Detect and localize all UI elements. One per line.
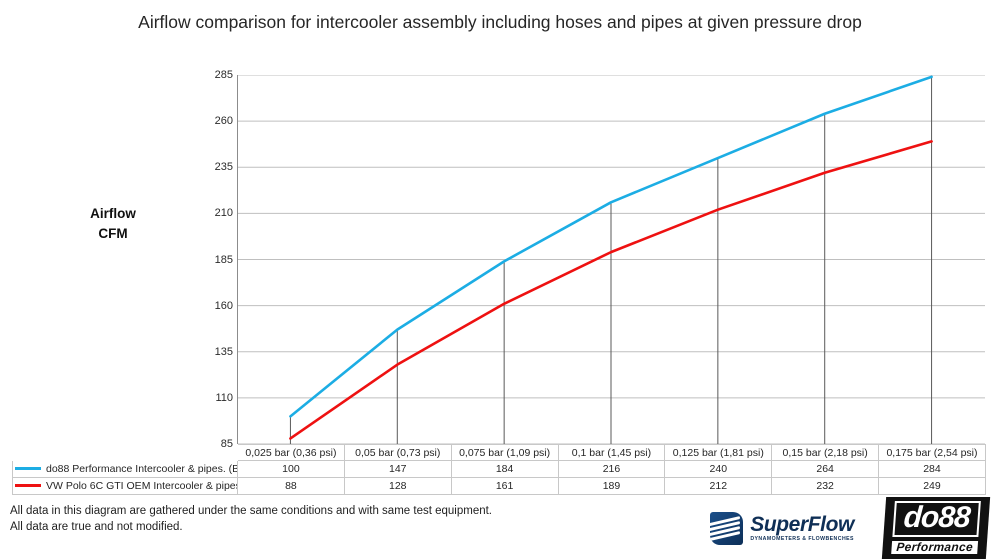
- footnote-line1: All data in this diagram are gathered un…: [10, 504, 492, 520]
- table-corner-cell: [13, 445, 238, 461]
- legend-item-0[interactable]: do88 Performance Intercooler & pipes. (B…: [13, 461, 238, 478]
- y-axis-title: Airflow CFM: [48, 204, 178, 245]
- do88-logo: do88 Performance: [882, 497, 990, 559]
- chart-plot-svg: [237, 75, 985, 444]
- data-cell: 128: [344, 478, 451, 495]
- superflow-wordmark: SuperFlow DYNAMOMETERS & FLOWBENCHES: [750, 514, 854, 542]
- chart-title: Airflow comparison for intercooler assem…: [120, 10, 880, 35]
- y-tick-label: 110: [189, 392, 233, 404]
- table-header-row: 0,025 bar (0,36 psi)0,05 bar (0,73 psi)0…: [13, 445, 986, 461]
- x-axis-label: 0,175 bar (2,54 psi): [879, 445, 986, 461]
- y-tick-label: 285: [189, 69, 233, 81]
- legend-item-1[interactable]: VW Polo 6C GTI OEM Intercooler & pipes: [13, 478, 238, 495]
- y-tick-label: 135: [189, 346, 233, 358]
- data-cell: 240: [665, 461, 772, 478]
- legend-swatch-icon: [15, 467, 41, 470]
- do88-name: do88: [892, 501, 981, 537]
- legend-swatch-icon: [15, 484, 41, 487]
- do88-subtitle: Performance: [891, 541, 978, 554]
- footnote: All data in this diagram are gathered un…: [10, 504, 492, 536]
- x-axis-label: 0,125 bar (1,81 psi): [665, 445, 772, 461]
- x-axis-label: 0,1 bar (1,45 psi): [558, 445, 665, 461]
- data-cell: 161: [451, 478, 558, 495]
- superflow-logo: SuperFlow DYNAMOMETERS & FLOWBENCHES: [710, 512, 854, 545]
- data-cell: 264: [772, 461, 879, 478]
- superflow-name: SuperFlow: [750, 514, 854, 535]
- table-row: do88 Performance Intercooler & pipes. (B…: [13, 461, 986, 478]
- y-tick-label: 210: [189, 207, 233, 219]
- y-axis-ticks: 85110135160185210235260285: [185, 75, 233, 444]
- x-axis-label: 0,075 bar (1,09 psi): [451, 445, 558, 461]
- data-cell: 212: [665, 478, 772, 495]
- data-cell: 284: [879, 461, 986, 478]
- data-cell: 184: [451, 461, 558, 478]
- x-axis-label: 0,05 bar (0,73 psi): [344, 445, 451, 461]
- y-axis-title-line1: Airflow: [48, 204, 178, 224]
- x-axis-label: 0,15 bar (2,18 psi): [772, 445, 879, 461]
- data-cell: 88: [238, 478, 345, 495]
- superflow-mark-icon: [710, 512, 743, 545]
- data-cell: 232: [772, 478, 879, 495]
- data-cell: 100: [238, 461, 345, 478]
- chart-screenshot: { "chart_data": { "type": "line", "title…: [0, 0, 1000, 560]
- plot-area: [237, 75, 985, 444]
- y-tick-label: 235: [189, 161, 233, 173]
- data-legend-table: 0,025 bar (0,36 psi)0,05 bar (0,73 psi)0…: [12, 444, 986, 495]
- data-cell: 249: [879, 478, 986, 495]
- footnote-line2: All data are true and not modified.: [10, 520, 492, 536]
- y-axis-title-line2: CFM: [48, 224, 178, 244]
- data-cell: 189: [558, 478, 665, 495]
- legend-label: do88 Performance Intercooler & pipes. (B…: [46, 463, 238, 475]
- data-cell: 216: [558, 461, 665, 478]
- superflow-subtitle: DYNAMOMETERS & FLOWBENCHES: [750, 537, 854, 542]
- data-cell: 147: [344, 461, 451, 478]
- legend-label: VW Polo 6C GTI OEM Intercooler & pipes: [46, 480, 238, 492]
- y-tick-label: 185: [189, 254, 233, 266]
- x-axis-label: 0,025 bar (0,36 psi): [238, 445, 345, 461]
- y-tick-label: 160: [189, 300, 233, 312]
- table-row: VW Polo 6C GTI OEM Intercooler & pipes88…: [13, 478, 986, 495]
- y-tick-label: 260: [189, 115, 233, 127]
- logo-row: SuperFlow DYNAMOMETERS & FLOWBENCHES do8…: [710, 502, 988, 554]
